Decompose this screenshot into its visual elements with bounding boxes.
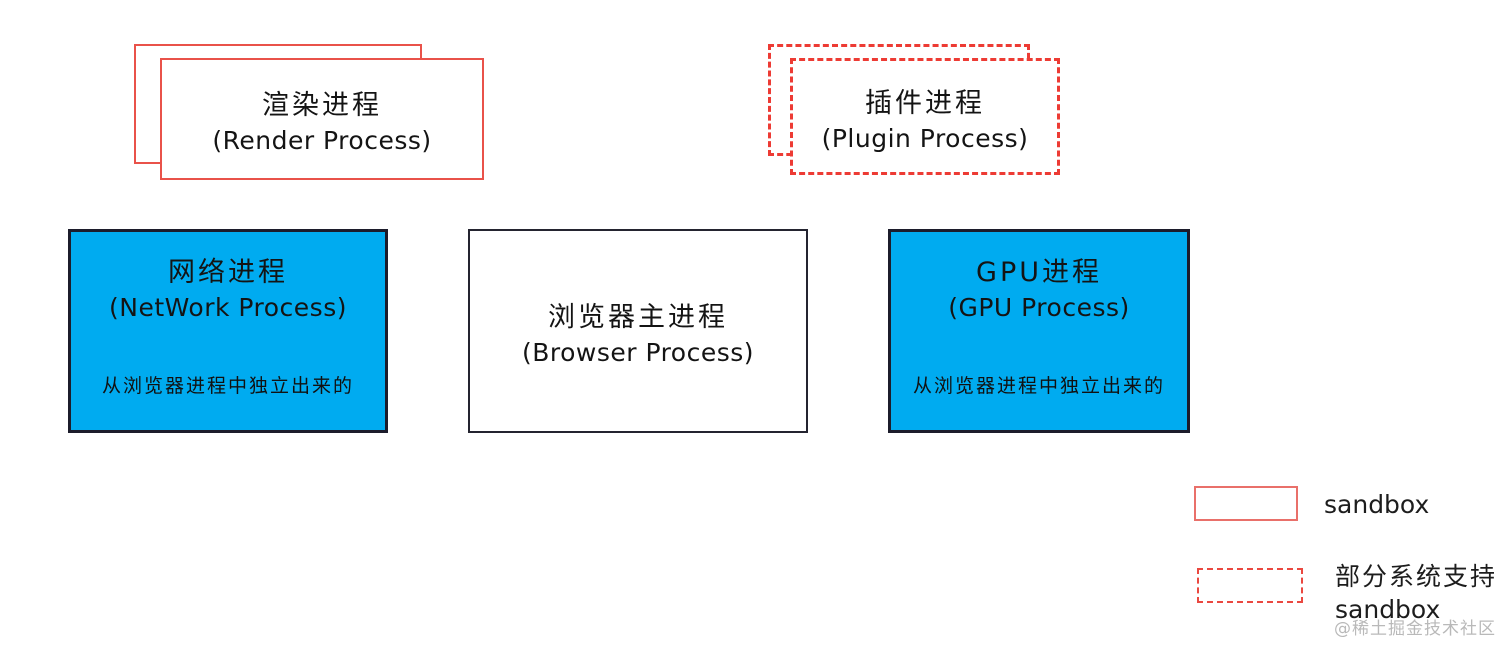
process-node-plugin[interactable]: 插件进程 (Plugin Process) <box>768 44 1060 175</box>
process-node-network[interactable]: 网络进程 (NetWork Process) 从浏览器进程中独立出来的 <box>68 229 388 433</box>
process-subtitle-browser: (Browser Process) <box>522 338 754 367</box>
process-node-browser[interactable]: 浏览器主进程 (Browser Process) <box>468 229 808 433</box>
process-title-network: 网络进程 <box>168 250 288 289</box>
process-title-gpu: GPU进程 <box>976 250 1102 289</box>
render-stack-front-layer: 渲染进程 (Render Process) <box>160 58 484 180</box>
process-note-slot-gpu: 从浏览器进程中独立出来的 <box>891 371 1187 398</box>
process-subtitle-gpu: (GPU Process) <box>948 293 1130 322</box>
process-title-render: 渲染进程 <box>262 83 382 122</box>
process-note-slot-network: 从浏览器进程中独立出来的 <box>71 371 385 398</box>
process-subtitle-render: (Render Process) <box>212 126 431 155</box>
process-title-browser: 浏览器主进程 <box>548 295 728 334</box>
legend-swatch-dashed-rect-icon <box>1197 568 1303 603</box>
legend-label-sandbox: sandbox <box>1324 488 1429 521</box>
legend-label-sandbox-text: sandbox <box>1324 488 1429 521</box>
legend: sandbox 部分系统支持 sandbox <box>1194 486 1504 626</box>
process-note-network: 从浏览器进程中独立出来的 <box>102 371 354 398</box>
plugin-stack-front-layer: 插件进程 (Plugin Process) <box>790 58 1060 175</box>
process-note-gpu: 从浏览器进程中独立出来的 <box>913 371 1165 398</box>
process-subtitle-network: (NetWork Process) <box>109 293 347 322</box>
process-title-plugin: 插件进程 <box>865 81 985 120</box>
process-node-render[interactable]: 渲染进程 (Render Process) <box>134 44 484 180</box>
process-subtitle-plugin: (Plugin Process) <box>822 124 1029 153</box>
watermark: @稀土掘金技术社区 <box>1334 614 1496 639</box>
legend-swatch-solid-rect-icon <box>1194 486 1298 521</box>
legend-item-sandbox: sandbox <box>1194 486 1429 521</box>
diagram-canvas: 渲染进程 (Render Process) 插件进程 (Plugin Proce… <box>0 0 1512 654</box>
legend-label-partial-sandbox-cn: 部分系统支持 <box>1335 560 1497 593</box>
process-node-gpu[interactable]: GPU进程 (GPU Process) 从浏览器进程中独立出来的 <box>888 229 1190 433</box>
